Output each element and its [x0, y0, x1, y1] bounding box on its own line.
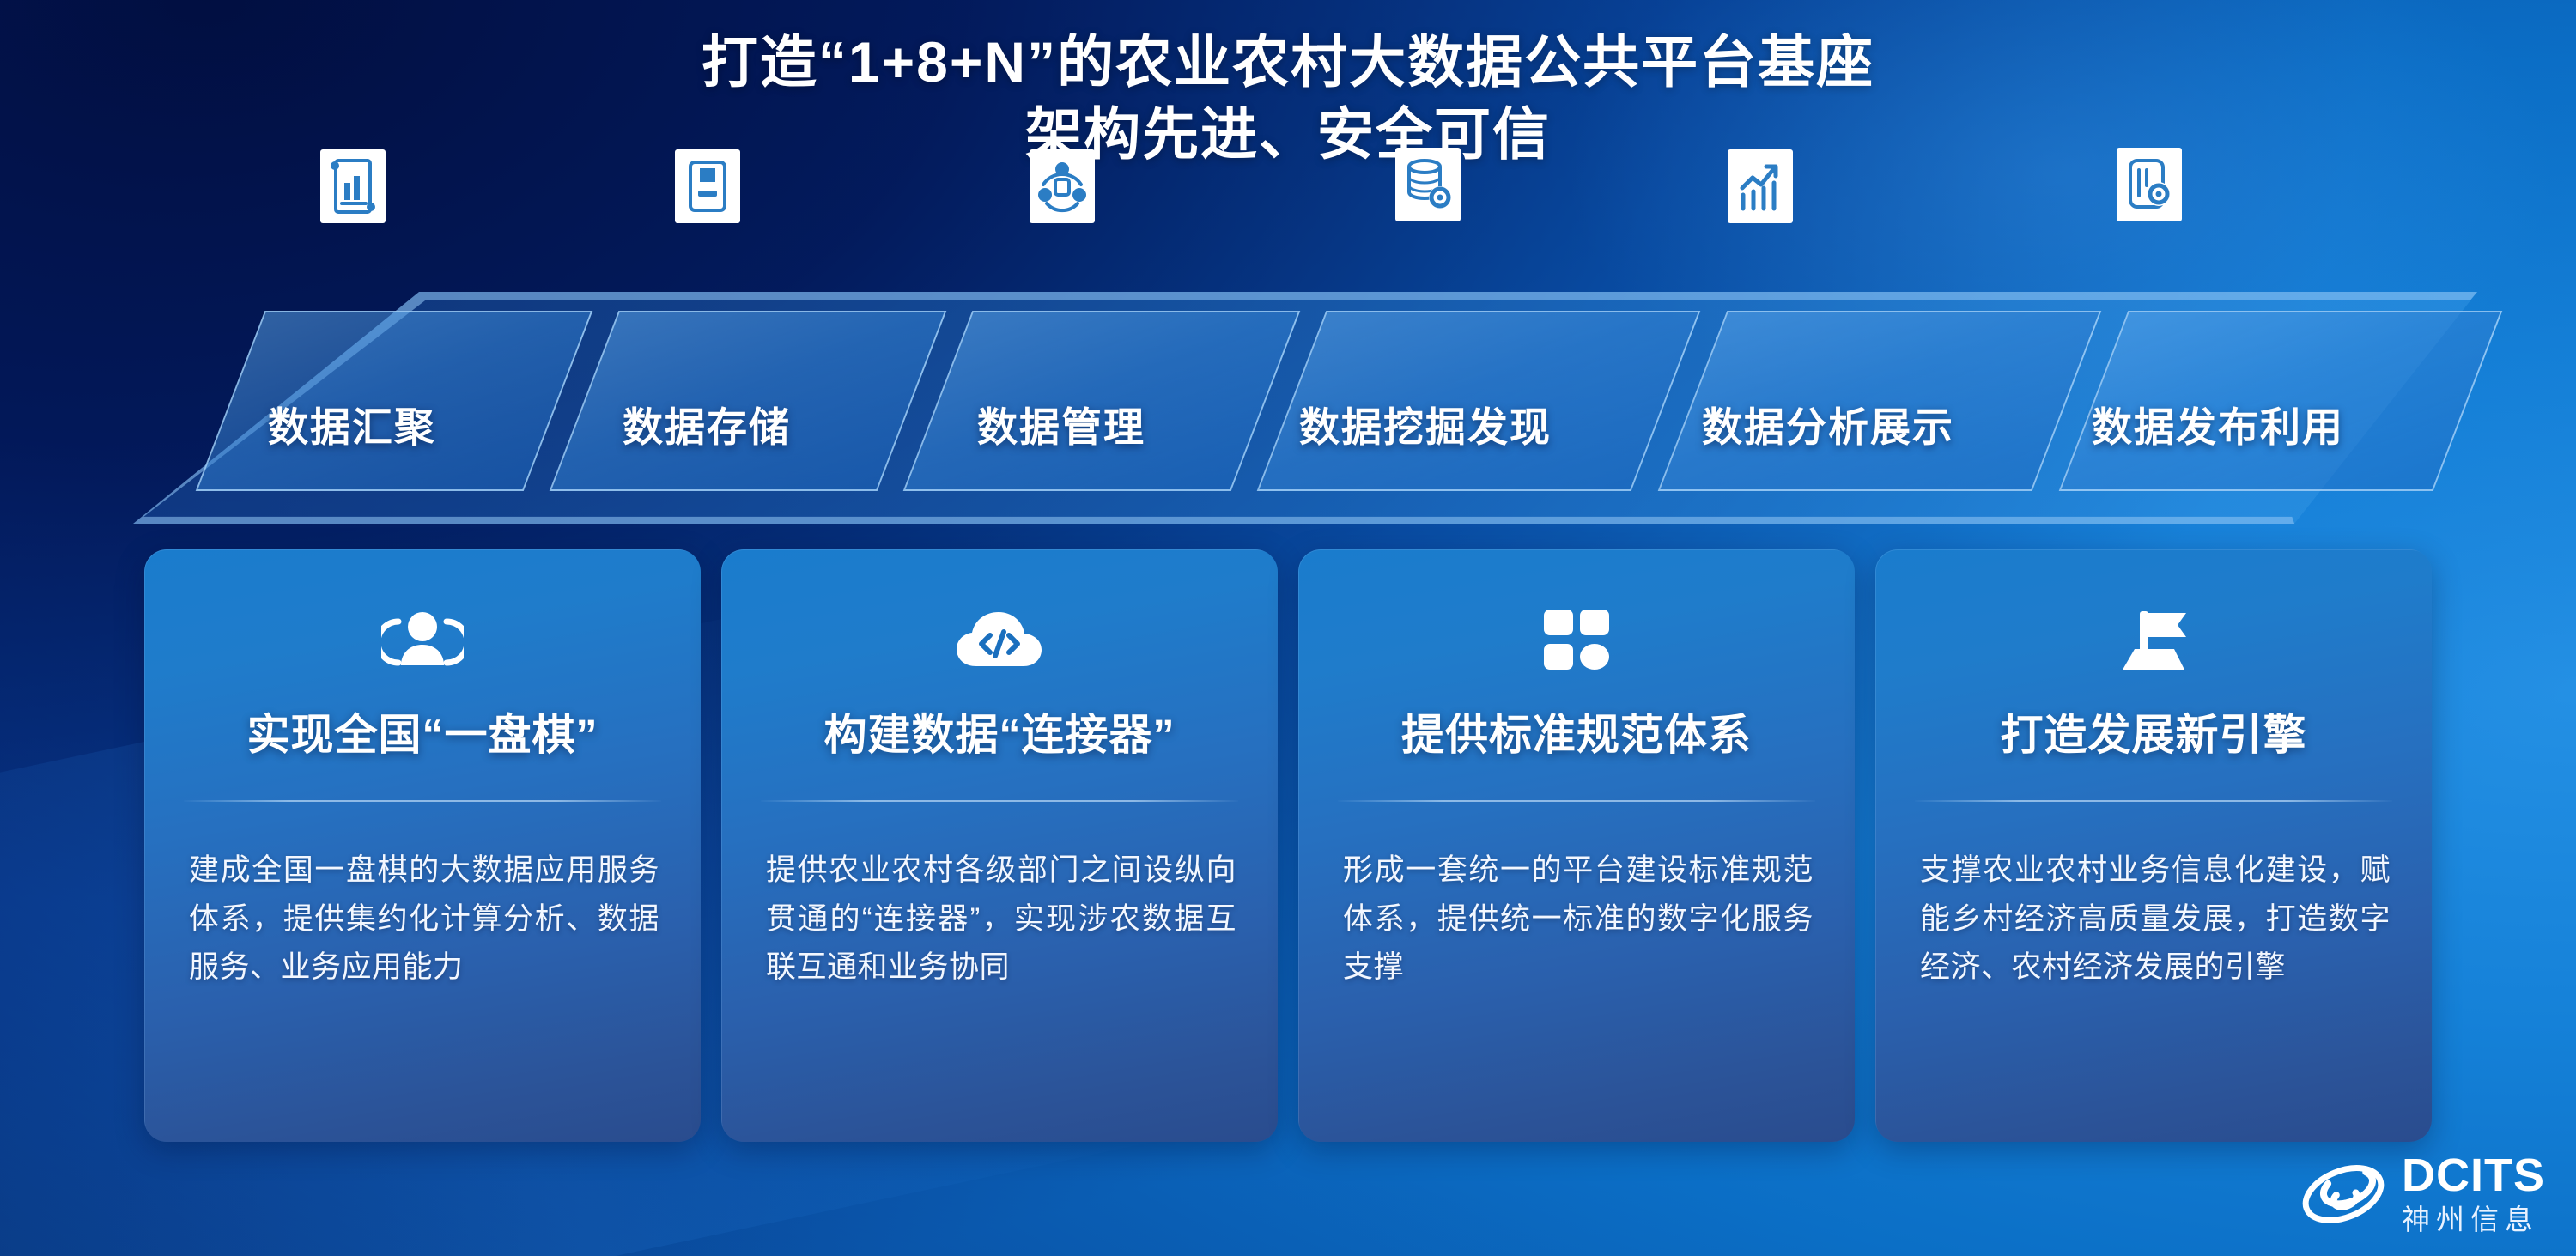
card-divider-2 [761, 800, 1238, 802]
cloud-code-icon [721, 601, 1278, 683]
card-divider-1 [184, 800, 661, 802]
benefit-card-title-4: 打造发展新引擎 [1875, 701, 2432, 762]
brand-name-cn: 神州信息 [2402, 1202, 2545, 1237]
ribbon-tile-2[interactable] [550, 311, 947, 491]
benefit-card-body-4: 支撑农业农村业务信息化建设，赋能乡村经济高质量发展，打造数字经济、农村经济发展的… [1920, 846, 2391, 992]
benefit-card-body-3: 形成一套统一的平台建设标准规范体系，提供统一标准的数字化服务支撑 [1343, 846, 1814, 992]
ribbon-tile-label-3: 数据管理 [881, 402, 1242, 453]
document-gear-icon [2117, 148, 2182, 221]
slide-root: 打造“1+8+N”的农业农村大数据公共平台基座 架构先进、安全可信 数据汇聚 数… [0, 0, 2576, 1256]
ribbon-tile-label-5: 数据分析展示 [1626, 402, 2030, 453]
benefit-card-1[interactable]: 实现全国“一盘棋” 建成全国一盘棋的大数据应用服务体系，提供集约化计算分析、数据… [144, 549, 701, 1142]
title-line-1: 打造“1+8+N”的农业农村大数据公共平台基座 [0, 26, 2576, 98]
ribbon-tile-label-6: 数据发布利用 [2016, 402, 2420, 453]
benefit-card-2[interactable]: 构建数据“连接器” 提供农业农村各级部门之间设纵向贯通的“连接器”，实现涉农数据… [721, 549, 1278, 1142]
ribbon-tile-6[interactable] [2059, 311, 2503, 491]
grid-squares-icon [1298, 601, 1855, 683]
ribbon-tile-label-4: 数据挖掘发现 [1224, 402, 1627, 453]
capability-ribbon: 数据汇聚 数据存储 数据管理 [0, 273, 2576, 531]
flag-icon [1875, 601, 2432, 683]
benefit-cards: 实现全国“一盘棋” 建成全国一盘棋的大数据应用服务体系，提供集约化计算分析、数据… [0, 549, 2576, 1150]
dcits-swirl-icon [2299, 1155, 2388, 1234]
benefit-card-body-2: 提供农业农村各级部门之间设纵向贯通的“连接器”，实现涉农数据互联互通和业务协同 [766, 846, 1236, 992]
users-group-icon [144, 601, 701, 683]
trend-chart-icon [1728, 149, 1793, 223]
page-title: 打造“1+8+N”的农业农村大数据公共平台基座 架构先进、安全可信 [0, 26, 2576, 171]
bar-chart-document-icon [320, 149, 386, 223]
card-divider-3 [1338, 800, 1815, 802]
floppy-disk-icon [675, 149, 740, 223]
benefit-card-4[interactable]: 打造发展新引擎 支撑农业农村业务信息化建设，赋能乡村经济高质量发展，打造数字经济… [1875, 549, 2432, 1142]
ribbon-tile-5[interactable] [1658, 311, 2102, 491]
ribbon-tile-label-2: 数据存储 [526, 402, 887, 453]
benefit-card-title-1: 实现全国“一盘棋” [144, 701, 701, 762]
title-line-2: 架构先进、安全可信 [0, 98, 2576, 170]
ribbon-tile-label-1: 数据汇聚 [172, 402, 532, 453]
benefit-card-body-1: 建成全国一盘棋的大数据应用服务体系，提供集约化计算分析、数据服务、业务应用能力 [189, 846, 659, 992]
ribbon-tile-1[interactable] [196, 311, 593, 491]
ribbon-tile-3[interactable] [903, 311, 1301, 491]
brand-logo-text: DCITS 神州信息 [2402, 1152, 2545, 1237]
benefit-card-title-2: 构建数据“连接器” [721, 701, 1278, 762]
ribbon-tile-4[interactable] [1257, 311, 1701, 491]
user-network-icon [1030, 149, 1095, 223]
database-gear-icon [1395, 148, 1461, 221]
card-divider-4 [1915, 800, 2392, 802]
brand-name-en: DCITS [2402, 1152, 2545, 1198]
brand-logo: DCITS 神州信息 [2299, 1152, 2545, 1237]
benefit-card-title-3: 提供标准规范体系 [1298, 701, 1855, 762]
benefit-card-3[interactable]: 提供标准规范体系 形成一套统一的平台建设标准规范体系，提供统一标准的数字化服务支… [1298, 549, 1855, 1142]
